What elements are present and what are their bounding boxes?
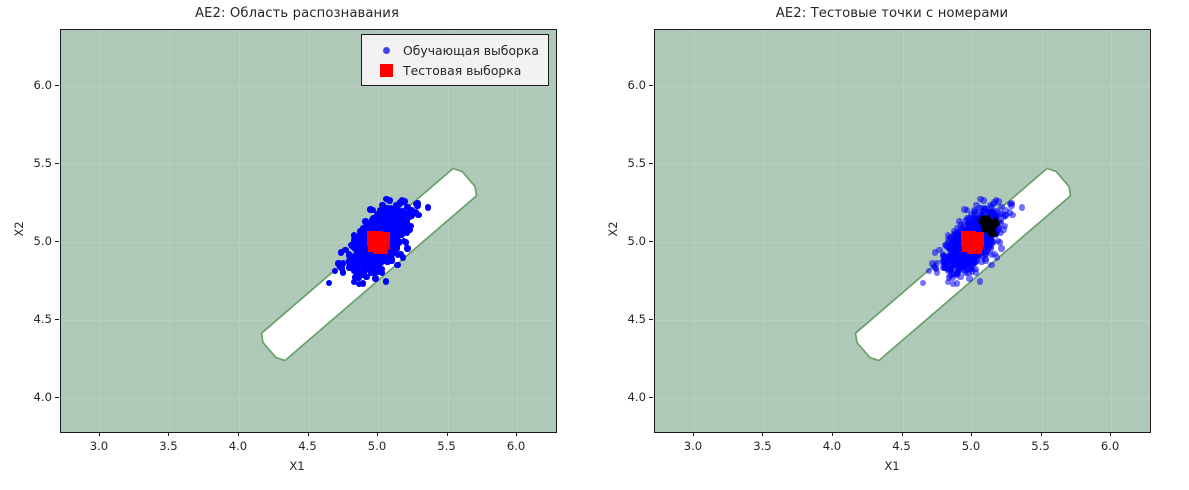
x-tick-label: 5.0 (368, 439, 386, 453)
x-tick-label: 5.5 (1031, 439, 1049, 453)
gridline-horizontal (61, 398, 556, 399)
y-tick-mark (55, 397, 59, 398)
y-tick-label: 4.0 (20, 390, 52, 404)
scatter-point-train (404, 230, 410, 236)
y-axis-label-left: X2 (12, 194, 26, 264)
scatter-point-train (425, 204, 431, 210)
y-tick-mark (649, 241, 653, 242)
y-tick-mark (649, 85, 653, 86)
scatter-point-train (375, 266, 381, 272)
y-tick-mark (649, 397, 653, 398)
scatter-point-train (973, 254, 979, 260)
gridline-horizontal (655, 398, 1150, 399)
y-tick-mark (649, 163, 653, 164)
x-tick-mark (238, 432, 239, 436)
scatter-point-train (982, 257, 988, 263)
scatter-point-train (403, 239, 409, 245)
plot-area-right (654, 29, 1151, 433)
x-tick-label: 3.5 (159, 439, 177, 453)
scatter-point-train (404, 245, 410, 251)
scatter-point-train (926, 268, 932, 274)
x-axis-label-right: X1 (595, 459, 1189, 473)
x-tick-label: 3.0 (90, 439, 108, 453)
y-tick-mark (55, 85, 59, 86)
gridline-vertical (169, 30, 170, 432)
gridline-horizontal (655, 164, 1150, 165)
x-tick-label: 4.5 (298, 439, 316, 453)
gridline-horizontal (61, 164, 556, 165)
x-tick-mark (1041, 432, 1042, 436)
legend-circle-icon (369, 47, 403, 54)
figure-canvas: AE2: Область распознавания X1 X2 Обучающ… (0, 0, 1189, 490)
gridline-vertical (239, 30, 240, 432)
x-tick-mark (902, 432, 903, 436)
plot-area-left (60, 29, 557, 433)
legend-item-train: Обучающая выборка (369, 40, 539, 60)
scatter-point-train (945, 237, 951, 243)
gridline-vertical (763, 30, 764, 432)
y-tick-label: 5.5 (20, 156, 52, 170)
scatter-point-test (374, 235, 389, 250)
gridline-vertical (1111, 30, 1112, 432)
x-tick-mark (168, 432, 169, 436)
scatter-point-train (379, 254, 385, 260)
gridline-vertical (517, 30, 518, 432)
legend-label-train: Обучающая выборка (403, 43, 539, 58)
scatter-point-train (352, 274, 358, 280)
x-tick-label: 6.0 (507, 439, 525, 453)
x-tick-label: 4.5 (892, 439, 910, 453)
y-tick-label: 6.0 (614, 78, 646, 92)
scatter-point-train (388, 257, 394, 263)
scatter-point-train (920, 280, 926, 286)
scatter-point-train (969, 266, 975, 272)
y-tick-label: 5.5 (614, 156, 646, 170)
y-tick-label: 4.0 (614, 390, 646, 404)
x-tick-label: 4.0 (823, 439, 841, 453)
gridline-horizontal (61, 320, 556, 321)
scatter-point-train (394, 262, 400, 268)
gridline-vertical (903, 30, 904, 432)
panel-left: AE2: Область распознавания X1 X2 Обучающ… (0, 0, 594, 490)
gridline-vertical (694, 30, 695, 432)
scatter-point-train (339, 266, 345, 272)
x-tick-label: 5.0 (962, 439, 980, 453)
scatter-point-train (990, 201, 996, 207)
x-tick-mark (971, 432, 972, 436)
scatter-point-train (997, 239, 1003, 245)
legend-label-test: Тестовая выборка (403, 63, 521, 78)
scatter-point-train (351, 237, 357, 243)
x-tick-mark (832, 432, 833, 436)
scatter-point-train (397, 228, 403, 234)
x-tick-label: 6.0 (1101, 439, 1119, 453)
scatter-point-train (398, 218, 404, 224)
x-tick-label: 4.0 (229, 439, 247, 453)
scatter-point-train (998, 245, 1004, 251)
gridline-vertical (833, 30, 834, 432)
legend-item-test: Тестовая выборка (369, 60, 539, 80)
gridline-vertical (309, 30, 310, 432)
x-tick-label: 5.5 (437, 439, 455, 453)
y-tick-label: 5.0 (20, 234, 52, 248)
scatter-point-train (946, 274, 952, 280)
panel-right: AE2: Тестовые точки с номерами X1 X2 3.0… (595, 0, 1189, 490)
gridline-horizontal (655, 320, 1150, 321)
legend-square-icon (369, 64, 403, 77)
x-tick-mark (693, 432, 694, 436)
y-tick-mark (55, 241, 59, 242)
gridline-horizontal (655, 86, 1150, 87)
scatter-point-train (977, 278, 983, 284)
y-tick-label: 4.5 (614, 312, 646, 326)
x-tick-mark (447, 432, 448, 436)
scatter-point-test (968, 235, 983, 250)
scatter-point-train (360, 270, 366, 276)
x-tick-label: 3.0 (684, 439, 702, 453)
scatter-point-train (973, 202, 979, 208)
scatter-point-train (966, 275, 972, 281)
y-axis-label-right: X2 (606, 194, 620, 264)
y-tick-label: 6.0 (20, 78, 52, 92)
x-tick-mark (1110, 432, 1111, 436)
scatter-point-train (367, 206, 373, 212)
x-tick-mark (308, 432, 309, 436)
scatter-point-train (396, 201, 402, 207)
scatter-point-train (1009, 212, 1015, 218)
panel-right-title: AE2: Тестовые точки с номерами (595, 6, 1189, 21)
gridline-vertical (100, 30, 101, 432)
scatter-point-train (1019, 204, 1025, 210)
gridline-vertical (1042, 30, 1043, 432)
scatter-point-train (401, 198, 407, 204)
x-tick-mark (516, 432, 517, 436)
scatter-point-train (933, 266, 939, 272)
legend-box: Обучающая выборка Тестовая выборка (361, 34, 549, 86)
gridline-horizontal (61, 242, 556, 243)
scatter-point-train (326, 280, 332, 286)
y-tick-mark (649, 319, 653, 320)
panel-left-title: AE2: Область распознавания (0, 6, 594, 21)
scatter-point-train (372, 275, 378, 281)
scatter-point-train (415, 212, 421, 218)
scatter-point-train (995, 198, 1001, 204)
x-tick-mark (99, 432, 100, 436)
x-tick-mark (762, 432, 763, 436)
scatter-point-train (980, 197, 986, 203)
x-tick-mark (377, 432, 378, 436)
y-tick-mark (55, 319, 59, 320)
scatter-point-train (332, 268, 338, 274)
y-tick-label: 4.5 (20, 312, 52, 326)
gridline-horizontal (61, 86, 556, 87)
scatter-point-train (379, 202, 385, 208)
y-tick-mark (55, 163, 59, 164)
scatter-point-train (387, 222, 393, 228)
x-tick-label: 3.5 (753, 439, 771, 453)
scatter-point-train (386, 197, 392, 203)
scatter-point-train (961, 206, 967, 212)
gridline-vertical (448, 30, 449, 432)
y-tick-label: 5.0 (614, 234, 646, 248)
scatter-point-train (383, 278, 389, 284)
gridline-horizontal (655, 242, 1150, 243)
scatter-point-train (408, 223, 414, 229)
scatter-point-train (988, 262, 994, 268)
x-axis-label-left: X1 (0, 459, 594, 473)
scatter-point-train (954, 270, 960, 276)
